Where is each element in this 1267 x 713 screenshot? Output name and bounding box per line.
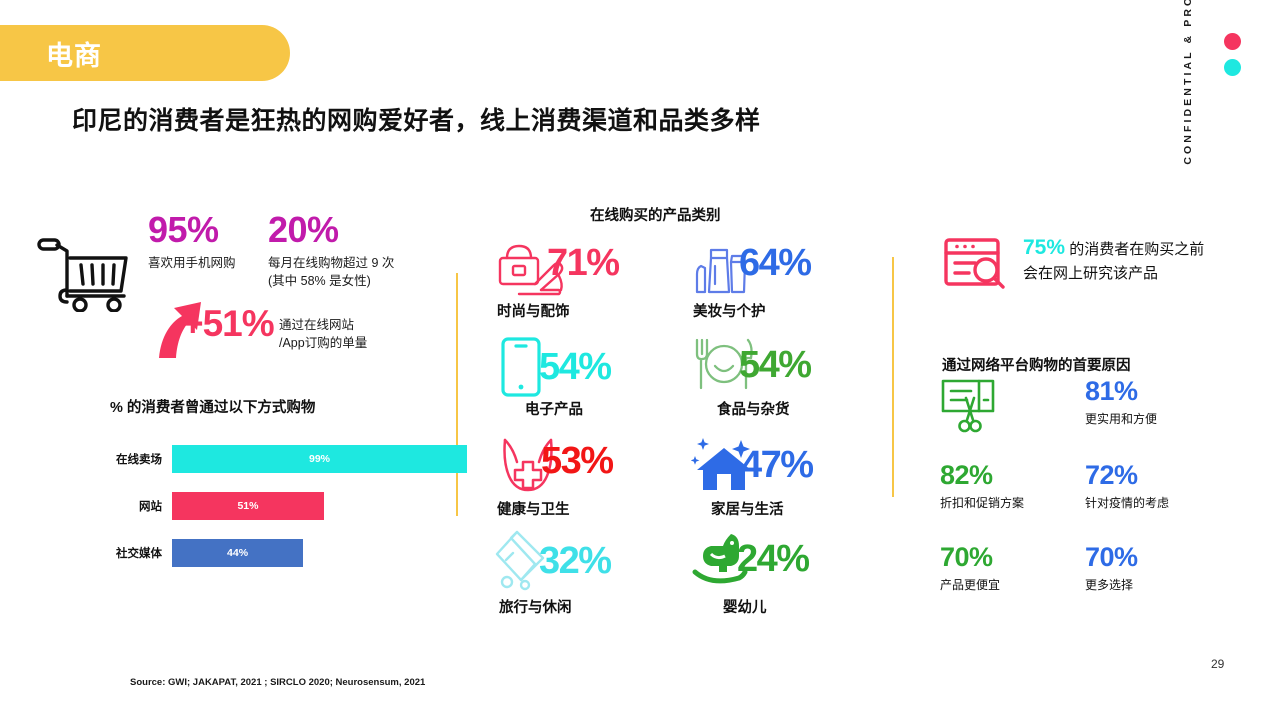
decor-dot-cyan-icon: [1224, 59, 1241, 76]
bar-row: 社交媒体 44%: [90, 534, 470, 572]
reason-value-convenience: 81%: [1085, 378, 1220, 405]
page-title: 印尼的消费者是狂热的网购爱好者，线上消费渠道和品类多样: [72, 101, 761, 137]
category-cell-fashion: 71% 时尚与配饰: [495, 240, 685, 302]
stat-growth-caption-line1: 通过在线网站: [279, 317, 367, 335]
category-cell-baby: 24% 婴幼儿: [691, 530, 881, 592]
reason-label-pandemic: 针对疫情的考虑: [1085, 494, 1220, 511]
bar-track: 51%: [172, 492, 470, 520]
reason-label-cheaper: 产品更便宜: [940, 576, 1075, 593]
stat-mobile-shopping: 95% 喜欢用手机网购: [148, 212, 236, 273]
section-tag-label: 电商: [46, 34, 102, 73]
category-cell-beauty: 64% 美妆与个护: [691, 240, 881, 302]
category-label-beauty: 美妆与个护: [693, 300, 766, 321]
bar-row: 网站 51%: [90, 487, 470, 525]
bar-label-marketplace: 在线卖场: [90, 451, 172, 467]
category-value-travel: 32%: [539, 542, 611, 580]
reason-cell-pandemic: 72% 针对疫情的考虑: [1085, 462, 1220, 511]
reason-value-variety: 70%: [1085, 544, 1220, 571]
column-divider-right: [892, 257, 894, 497]
bar-chart: 在线卖场 99% 网站 51% 社交媒体 44%: [90, 440, 470, 581]
category-label-fashion: 时尚与配饰: [497, 300, 570, 321]
reason-cell-discounts: 82% 折扣和促销方案: [940, 462, 1075, 511]
category-cell-home: 47% 家居与生活: [691, 436, 881, 498]
reasons-title: 通过网络平台购物的首要原因: [942, 354, 1131, 375]
page-number: 29: [1211, 657, 1224, 671]
bar-label-website: 网站: [90, 498, 172, 514]
stat-frequency-caption: 每月在线购物超过 9 次 (其中 58% 是女性): [268, 255, 394, 291]
category-value-beauty: 64%: [739, 244, 811, 282]
reason-label-discounts: 折扣和促销方案: [940, 494, 1075, 511]
confidential-notice: CONFIDENTIAL & PROPRIETARY: [1182, 0, 1194, 218]
bar-fill-marketplace: 99%: [172, 445, 467, 473]
category-label-health: 健康与卫生: [497, 498, 570, 519]
bar-row: 在线卖场 99%: [90, 440, 470, 478]
bar-track: 44%: [172, 539, 470, 567]
bar-fill-social: 44%: [172, 539, 303, 567]
bar-value-marketplace: 99%: [309, 453, 330, 465]
section-tag-badge: 电商: [0, 25, 290, 81]
category-value-health: 53%: [541, 442, 613, 480]
stat-frequency: 20% 每月在线购物超过 9 次 (其中 58% 是女性): [268, 212, 394, 291]
category-value-electronics: 54%: [539, 348, 611, 386]
category-label-groceries: 食品与杂货: [717, 398, 790, 419]
stat-mobile-value: 95%: [148, 212, 236, 248]
category-cell-health: 53% 健康与卫生: [495, 436, 685, 498]
category-cell-travel: 32% 旅行与休闲: [495, 530, 685, 592]
bar-chart-title: % 的消费者曾通过以下方式购物: [110, 396, 315, 417]
reason-label-convenience: 更实用和方便: [1085, 410, 1220, 427]
shopping-cart-icon: [36, 234, 132, 317]
browser-search-icon: [943, 237, 1007, 296]
research-percent: 75%: [1023, 236, 1065, 259]
research-text: 75% 的消费者在购买之前会在网上研究该产品: [1023, 232, 1213, 285]
reason-value-pandemic: 72%: [1085, 462, 1220, 489]
stat-growth-caption-line2: /App订购的单量: [279, 335, 367, 353]
bar-fill-website: 51%: [172, 492, 324, 520]
stat-frequency-caption-line1: 每月在线购物超过 9 次: [268, 255, 394, 273]
category-value-groceries: 54%: [739, 346, 811, 384]
reason-cell-cheaper: 70% 产品更便宜: [940, 544, 1075, 593]
decor-dot-pink-icon: [1224, 33, 1241, 50]
category-label-travel: 旅行与休闲: [499, 596, 572, 617]
bar-track: 99%: [172, 445, 470, 473]
bar-value-social: 44%: [227, 547, 248, 559]
reason-cell-convenience: 81% 更实用和方便: [1085, 378, 1220, 427]
categories-title: 在线购买的产品类别: [590, 204, 721, 225]
source-note: Source: GWI; JAKAPAT, 2021 ; SIRCLO 2020…: [130, 677, 425, 688]
stat-growth-caption: 通过在线网站 /App订购的单量: [279, 317, 367, 353]
category-label-electronics: 电子产品: [525, 398, 583, 419]
category-value-fashion: 71%: [547, 244, 619, 282]
category-label-baby: 婴幼儿: [723, 596, 767, 617]
reason-value-cheaper: 70%: [940, 544, 1075, 571]
reason-cell-variety: 70% 更多选择: [1085, 544, 1220, 593]
category-label-home: 家居与生活: [711, 498, 784, 519]
stat-frequency-caption-line2: (其中 58% 是女性): [268, 273, 394, 291]
bar-label-social: 社交媒体: [90, 545, 172, 561]
category-cell-electronics: 54% 电子产品: [495, 336, 685, 398]
stat-growth-value: +51%: [182, 305, 274, 342]
category-value-baby: 24%: [737, 540, 809, 578]
stat-mobile-caption: 喜欢用手机网购: [148, 255, 236, 273]
stat-frequency-value: 20%: [268, 212, 394, 248]
category-value-home: 47%: [741, 446, 813, 484]
coupon-scissors-icon: [940, 378, 1000, 441]
category-cell-groceries: 54% 食品与杂货: [691, 336, 881, 398]
reason-value-discounts: 82%: [940, 462, 1075, 489]
slide-root: 电商 印尼的消费者是狂热的网购爱好者，线上消费渠道和品类多样 CONFIDENT…: [0, 0, 1267, 713]
reason-label-variety: 更多选择: [1085, 576, 1220, 593]
bar-value-website: 51%: [237, 500, 258, 512]
